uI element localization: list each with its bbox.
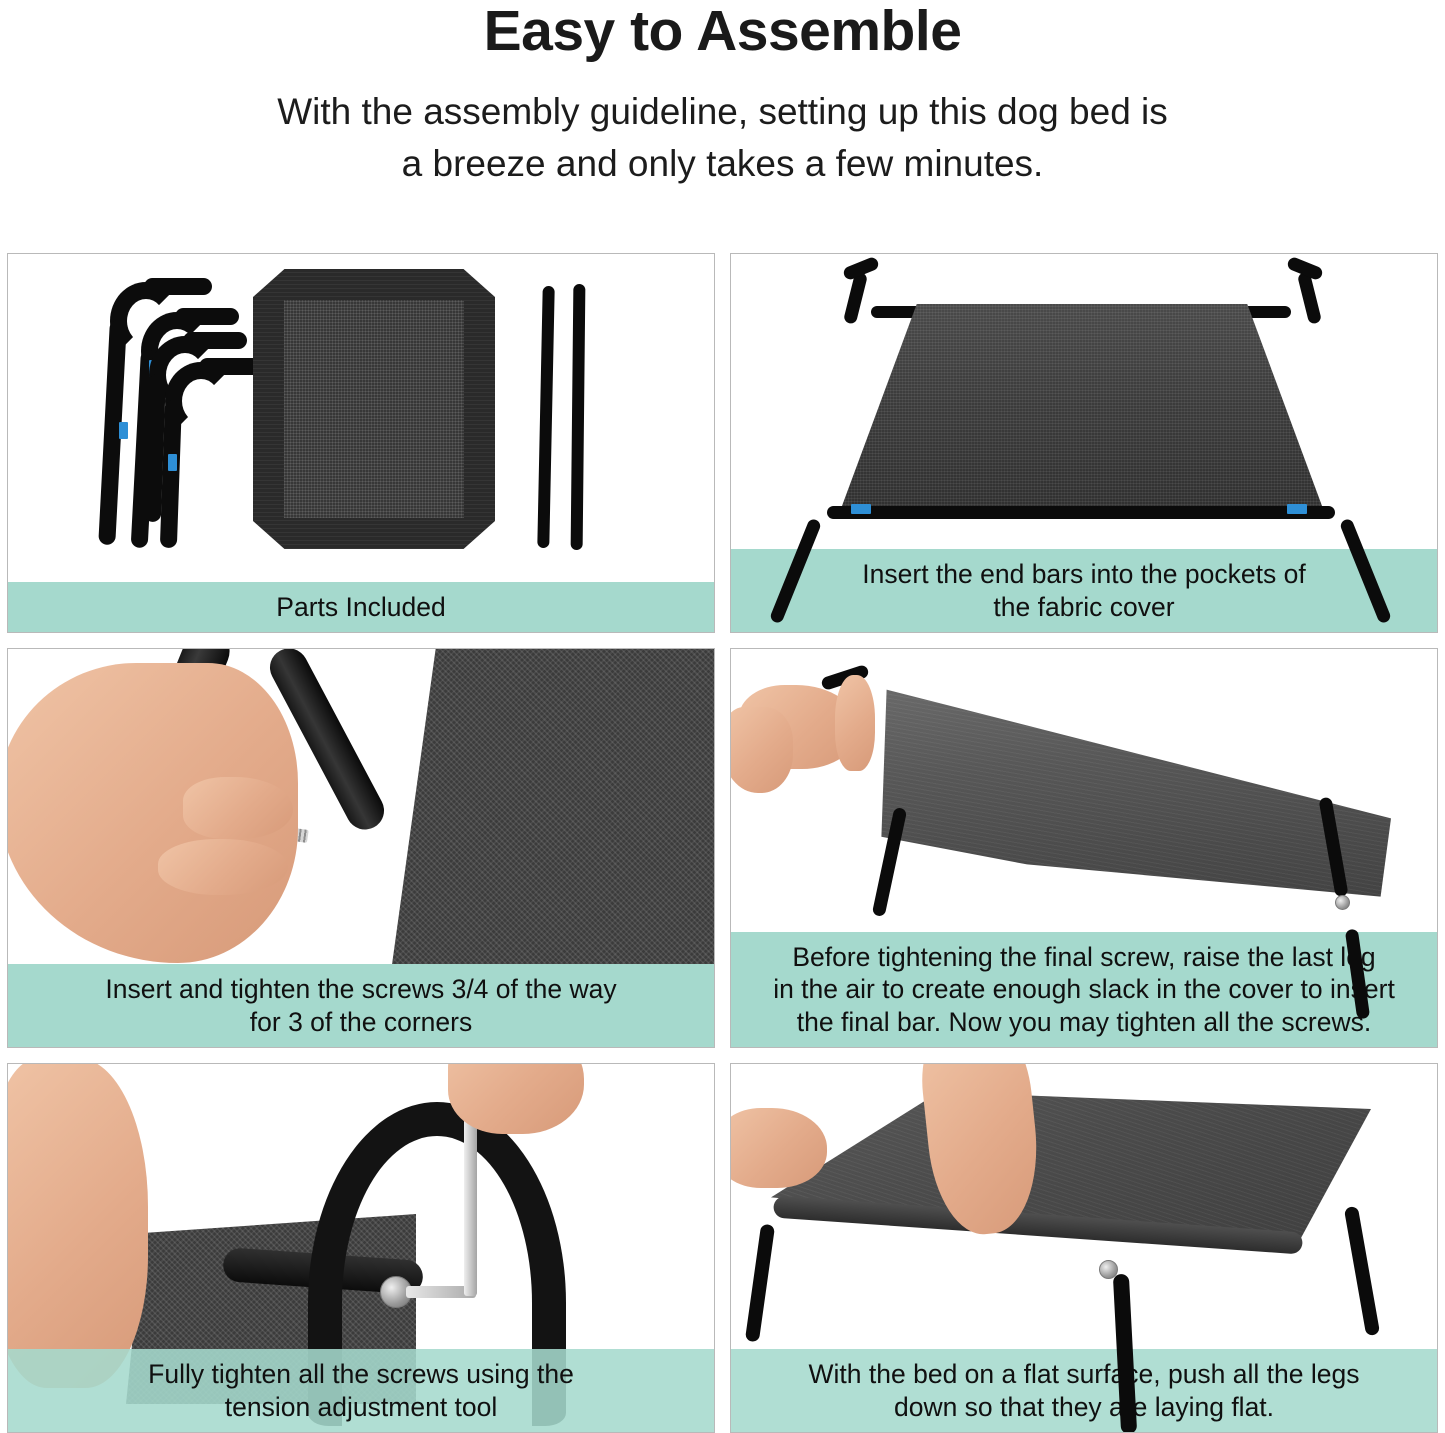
step-panel-6: With the bed on a flat surface, push all… xyxy=(730,1063,1438,1433)
hand-holding-tool xyxy=(448,1064,584,1134)
rear-leg-left xyxy=(843,271,868,325)
hand-holding-edge xyxy=(731,1108,827,1188)
step-panel-2: Insert the end bars into the pockets of … xyxy=(730,253,1438,633)
step-2-caption-line-1: Insert the end bars into the pockets of xyxy=(862,558,1305,590)
index-finger xyxy=(158,839,288,895)
step-4-caption-line-2: in the air to create enough slack in the… xyxy=(773,973,1395,1005)
step-1-caption-line-1: Parts Included xyxy=(276,591,445,623)
mesh-fabric-cover xyxy=(253,269,495,549)
curved-leg-1-arm xyxy=(144,278,212,295)
end-bar-1 xyxy=(537,286,554,548)
fabric-deck xyxy=(839,304,1325,514)
step-1-caption: Parts Included xyxy=(8,582,714,632)
thumb xyxy=(183,777,293,839)
bed-leg-left xyxy=(745,1224,775,1343)
page-subtitle: With the assembly guideline, setting up … xyxy=(0,86,1445,191)
step-5-caption: Fully tighten all the screws using the t… xyxy=(8,1349,714,1432)
fabric-mesh-area xyxy=(390,649,714,979)
front-left-sticker xyxy=(851,504,871,514)
step-6-caption: With the bed on a flat surface, push all… xyxy=(731,1349,1437,1432)
step-4-caption: Before tightening the final screw, raise… xyxy=(731,932,1437,1047)
subtitle-line-2: a breeze and only takes a few minutes. xyxy=(402,143,1044,184)
bed-leg-right xyxy=(1344,1206,1380,1336)
step-panel-3: Insert and tighten the screws 3/4 of the… xyxy=(7,648,715,1048)
step-6-caption-line-2: down so that they are laying flat. xyxy=(809,1391,1360,1423)
end-bar-2 xyxy=(571,284,586,550)
step-6-caption-line-1: With the bed on a flat surface, push all… xyxy=(809,1358,1360,1390)
front-right-sticker xyxy=(1287,504,1307,514)
header: Easy to Assemble With the assembly guide… xyxy=(0,0,1445,191)
step-3-caption: Insert and tighten the screws 3/4 of the… xyxy=(8,964,714,1047)
step-panel-5: Fully tighten all the screws using the t… xyxy=(7,1063,715,1433)
step-2-caption: Insert the end bars into the pockets of … xyxy=(731,549,1437,632)
step-panel-1: Parts Included xyxy=(7,253,715,633)
step-3-caption-line-1: Insert and tighten the screws 3/4 of the… xyxy=(105,973,616,1005)
hand-pressing-bed xyxy=(8,1064,148,1388)
curved-leg-2-arm xyxy=(175,308,239,325)
step-5-caption-line-1: Fully tighten all the screws using the xyxy=(148,1358,574,1390)
cover-mesh-panel xyxy=(284,300,463,518)
infographic-page: Easy to Assemble With the assembly guide… xyxy=(0,0,1445,1433)
rear-leg-right xyxy=(1297,271,1322,325)
step-3-caption-line-2: for 3 of the corners xyxy=(105,1006,616,1038)
front-end-bar xyxy=(827,506,1335,519)
step-2-caption-line-2: the fabric cover xyxy=(862,591,1305,623)
step-panel-4: Before tightening the final screw, raise… xyxy=(730,648,1438,1048)
parts-included-photo xyxy=(8,254,714,632)
curved-leg-4-sticker xyxy=(168,454,177,471)
page-title: Easy to Assemble xyxy=(0,2,1445,62)
step-4-caption-line-1: Before tightening the final screw, raise… xyxy=(773,941,1395,973)
step-5-caption-line-2: tension adjustment tool xyxy=(148,1391,574,1423)
corner-bolt xyxy=(1335,895,1350,910)
hand-right-fingers xyxy=(835,675,875,771)
fabric-drape-texture xyxy=(871,685,1391,915)
curved-leg-1-sticker xyxy=(119,422,128,439)
steps-grid: Parts Included xyxy=(7,253,1438,1433)
curved-leg-3-arm xyxy=(183,332,247,349)
step-4-caption-line-3: the final bar. Now you may tighten all t… xyxy=(773,1006,1395,1038)
subtitle-line-1: With the assembly guideline, setting up … xyxy=(277,91,1168,132)
fabric-deck-mesh xyxy=(839,304,1325,514)
forearm xyxy=(731,707,793,793)
